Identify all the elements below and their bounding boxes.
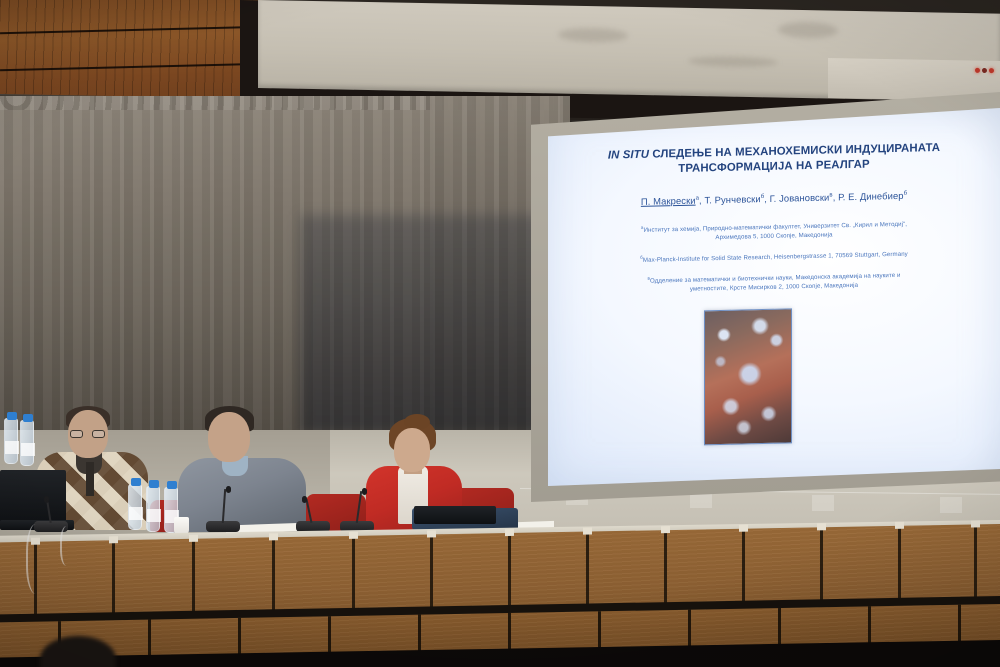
affiliation-1-line2: Архимедова 5, 1000 Скопје, Македонија [715, 231, 832, 241]
slide-affiliation-1: аИнститут за хемија, Природно-математичк… [548, 215, 1000, 247]
author-name-2: Т. Рунчевски [704, 193, 760, 205]
alert-led-icon [989, 68, 994, 73]
slide-title: IN SITU СЛЕДЕЊЕ НА МЕХАНОХЕМИСКИ ИНДУЦИР… [548, 140, 1000, 180]
slide-title-line1: СЛЕДЕЊЕ НА МЕХАНОХЕМИСКИ ИНДУЦИРАНАТА [652, 142, 940, 161]
slide-surface: IN SITU СЛЕДЕЊЕ НА МЕХАНОХЕМИСКИ ИНДУЦИР… [548, 98, 1000, 486]
author-name-4: Р. Е. Динебиер [838, 190, 903, 203]
author-sup-4: б [904, 191, 908, 197]
eyeglasses-icon [70, 430, 106, 438]
conference-photo-scene: IN SITU СЛЕДЕЊЕ НА МЕХАНОХЕМИСКИ ИНДУЦИР… [0, 0, 1000, 667]
cable [60, 526, 76, 566]
water-bottle[interactable] [4, 418, 18, 464]
author-name-1: П. Макрески [641, 195, 696, 207]
projection-screen[interactable]: IN SITU СЛЕДЕЊЕ НА МЕХАНОХЕМИСКИ ИНДУЦИР… [548, 108, 1000, 486]
water-bottle[interactable] [20, 420, 34, 466]
affiliation-3-line2: уметностите, Крсте Мисирков 2, 1000 Скоп… [690, 282, 858, 293]
av-control-unit[interactable] [414, 506, 496, 524]
panelist-2-head [208, 412, 250, 462]
wall-notch [812, 495, 834, 511]
affiliation-2-line1: Max-Planck-Institute for Solid State Res… [643, 251, 908, 264]
cable [26, 524, 50, 594]
panelist-1-tie [86, 462, 94, 496]
slide-affiliation-2: бMax-Planck-Institute for Solid State Re… [548, 245, 1000, 268]
microphone-4[interactable] [340, 490, 374, 532]
slide-affiliation-3: вОдделение за математички и биотехнички … [548, 266, 1000, 298]
wood-wall-panel [0, 0, 262, 108]
microphone-3[interactable] [296, 498, 330, 532]
microphone-2[interactable] [206, 488, 240, 532]
water-bottle[interactable] [146, 486, 160, 532]
indicator-led-group [975, 66, 999, 74]
author-sup-1: а [696, 195, 699, 201]
wall-notch [940, 497, 962, 513]
power-led-icon [975, 67, 980, 72]
slide-mineral-photo [704, 308, 792, 445]
slide-title-italic-part: IN SITU [608, 149, 649, 162]
water-bottle[interactable] [128, 484, 142, 530]
author-name-3: Г. Јовановски [770, 192, 830, 204]
slide-author-list: П. Макрескиа, Т. Рунчевскиб, Г. Јовановс… [548, 186, 1000, 211]
author-sup-3: в [829, 192, 832, 198]
status-led-icon [982, 67, 987, 72]
panelist-3-head [394, 428, 430, 472]
curtain-shadow [300, 215, 570, 433]
author-sup-2: б [761, 194, 765, 200]
slide-title-line2: ТРАНСФОРМАЦИЈА НА РЕАЛГАР [678, 159, 869, 175]
